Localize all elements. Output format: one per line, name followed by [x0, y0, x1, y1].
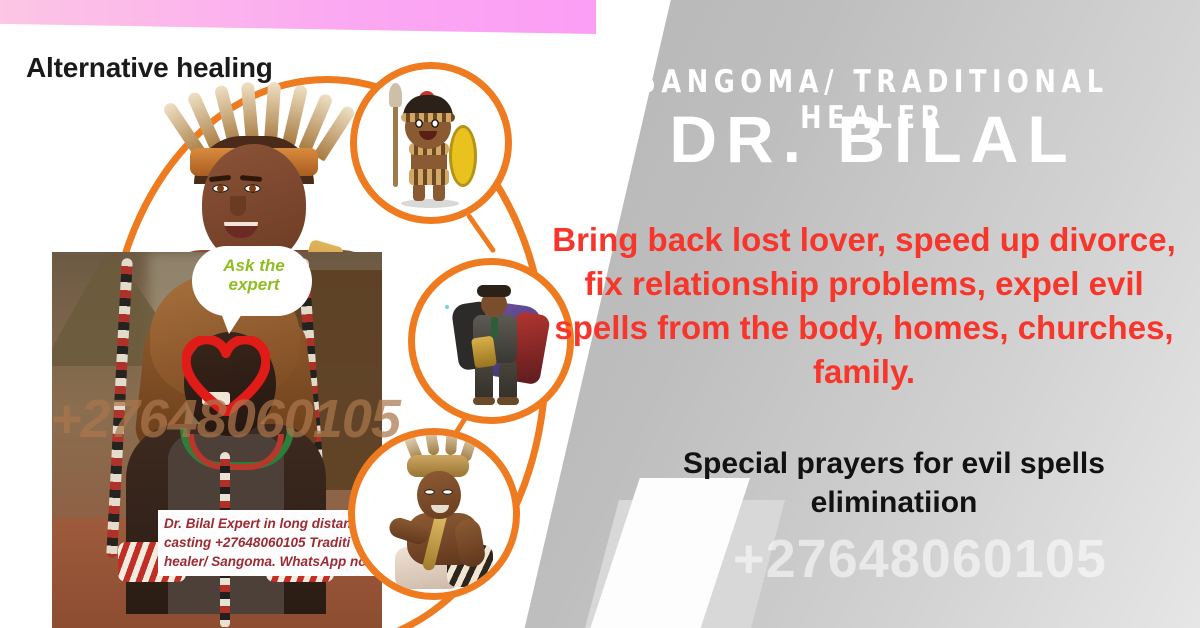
sparkle-icon	[445, 305, 449, 309]
plume-icon	[445, 428, 458, 455]
caped-hat	[477, 285, 511, 297]
cartoon-skirt	[409, 169, 449, 185]
warrior-pupil-right	[249, 185, 256, 192]
plume-icon	[424, 428, 440, 456]
alternative-healing-heading: Alternative healing	[26, 52, 273, 84]
top-pink-band	[0, 0, 596, 34]
cartoon-eye-right	[431, 119, 439, 128]
cartoon-shadow	[401, 199, 459, 208]
feather-icon	[264, 82, 281, 143]
services-text: Bring back lost lover, speed up divorce,…	[540, 218, 1188, 394]
shield-icon	[449, 125, 477, 187]
cartoon-fur-headband	[401, 113, 455, 122]
caption-line-3: healer/ Sangoma. WhatsApp no	[164, 552, 387, 571]
caped-leg-right	[499, 361, 517, 401]
warrior-head	[202, 144, 306, 264]
special-prayers-text: Special prayers for evil spells eliminat…	[600, 444, 1188, 522]
poster-canvas: Alternative healing	[0, 0, 1200, 628]
cartoon-leg-left	[413, 183, 425, 201]
crouching-eye-right	[442, 489, 453, 495]
caped-tie	[491, 317, 498, 339]
right-phone-watermark: +27648060105	[640, 528, 1200, 590]
circle-image-zulu-cartoon	[350, 62, 512, 224]
cartoon-leg-right	[433, 183, 445, 201]
caped-shoe-right	[497, 397, 519, 405]
warrior-nose	[230, 196, 246, 216]
cartoon-eye-left	[415, 119, 423, 128]
caped-shoe-left	[473, 397, 495, 405]
circle-image-crouching-healer	[348, 428, 520, 600]
brand-name: DR. BILAL	[566, 106, 1180, 172]
caped-satchel	[471, 336, 497, 369]
crouching-eye-left	[424, 489, 435, 495]
speech-bubble-text: Ask the expert	[200, 256, 308, 294]
warrior-pupil-left	[217, 185, 224, 192]
spear-head-icon	[389, 83, 402, 107]
left-phone-watermark: +27648060105	[50, 388, 400, 450]
